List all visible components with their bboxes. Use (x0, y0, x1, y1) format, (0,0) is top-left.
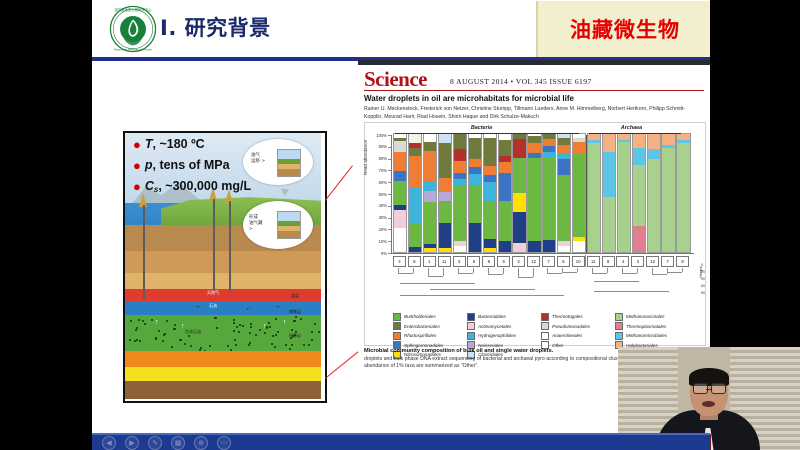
dendrogram-branch (443, 268, 444, 276)
bar-segment (603, 197, 615, 252)
rock-texture-dot (275, 334, 277, 336)
height-tick-label: 40 (701, 277, 705, 281)
legend-swatch (615, 332, 623, 340)
legend-swatch (467, 322, 475, 330)
bar-segment (454, 246, 466, 252)
legend-item: Pseudomonadales (541, 322, 615, 332)
bar-segment (409, 134, 421, 143)
bullet-symbol-0: T (145, 137, 153, 151)
bar-segment (528, 241, 540, 252)
dendrogram-branch (428, 276, 443, 277)
dendrogram-branch (518, 268, 519, 277)
zoom-button[interactable]: ⊕ (194, 436, 208, 450)
bar-segment (469, 223, 481, 253)
legend-swatch (467, 313, 475, 321)
rock-texture-dot (142, 320, 144, 322)
bar-segment (633, 165, 645, 226)
rock-texture-dot (136, 339, 138, 341)
dendrogram-branch (428, 268, 429, 276)
institute-emblem-logo: 油气藏地质工程研究中心 Reservoir Research Center (109, 5, 157, 53)
group-divider (586, 135, 587, 253)
dendrogram-branch (473, 268, 474, 273)
callout-bottom-block-icon (277, 211, 301, 239)
rock-texture-dot (233, 322, 235, 324)
legend-item: Enterobacteriales (393, 322, 467, 332)
rock-texture-dot (236, 326, 238, 328)
bar-archaea-9 (602, 133, 616, 253)
bar-segment (469, 167, 481, 174)
screen: 油气藏地质工程研究中心 Reservoir Research Center I.… (0, 0, 800, 450)
bar-archaea-4 (617, 133, 631, 253)
dendrogram-branch (547, 273, 562, 274)
connector-line-bottom (325, 349, 361, 379)
rock-texture-dot (216, 327, 218, 329)
dendrogram-branch (518, 277, 533, 278)
bar-segment (454, 179, 466, 186)
rock-texture-dot (173, 328, 175, 330)
bar-bacteria-1 (423, 133, 437, 253)
rock-texture-dot (242, 325, 244, 327)
dendrogram-branch (458, 273, 473, 274)
rock-texture-dot (285, 344, 287, 346)
bar-segment (484, 175, 496, 182)
bar-segment (424, 191, 436, 203)
dendrogram-branch (488, 268, 489, 274)
bar-segment (618, 142, 630, 252)
dendrogram-branch (682, 268, 683, 272)
legend-label: Pseudomonadales (552, 324, 590, 329)
bar-bacteria-6 (557, 133, 571, 253)
rock-texture-dot (250, 323, 252, 325)
bar-segment (484, 138, 496, 166)
bar-segment (513, 193, 525, 212)
y-tick-label: 70% (372, 168, 387, 173)
oil-reservoir-conditions-panel: ↑ ↑ ↑ ↑ ← ← ← 天然气 石油 生成石油 盖层 储集层 烃源岩 油气 … (123, 131, 327, 403)
rock-texture-dot (291, 329, 293, 331)
bar-segment (573, 142, 585, 154)
bar-segment (633, 134, 645, 148)
dendrogram-branch (607, 268, 608, 273)
layer-label-caprock: 盖层 (291, 293, 299, 299)
rock-texture-dot (274, 346, 276, 348)
x-tick-label: 9 (602, 256, 615, 267)
bullet-dot-icon: ● (133, 159, 141, 172)
rock-texture-dot (227, 345, 229, 347)
height-tick-label: 20 (701, 270, 705, 274)
dendrogram-branch (547, 268, 548, 273)
bar-segment (484, 166, 496, 175)
masthead-rule (364, 90, 704, 91)
bar-segment (484, 182, 496, 201)
control-bar-accent (92, 433, 710, 435)
rock-texture-dot (233, 319, 235, 321)
bar-segment (424, 248, 436, 252)
rock-texture-dot (238, 331, 240, 333)
x-tick-label: 8 (408, 256, 421, 267)
bar-bacteria-8 (408, 133, 422, 253)
bar-segment (558, 246, 570, 252)
pen-tool-button[interactable]: ✎ (148, 436, 162, 450)
bar-segment (424, 142, 436, 150)
legend-swatch (615, 322, 623, 330)
legend-swatch (541, 332, 549, 340)
x-tick-label: 4 (616, 256, 629, 267)
legend-item: Rhodospirillales (393, 331, 467, 341)
rock-texture-dot (134, 340, 136, 342)
legend-swatch (393, 332, 401, 340)
presenter-mouth (702, 401, 715, 407)
bullet-dot-icon: ● (133, 180, 141, 193)
bar-segment (558, 138, 570, 145)
height-tick-label: 0 (701, 263, 703, 267)
next-slide-button[interactable]: ▶ (125, 436, 139, 450)
bar-segment (484, 248, 496, 252)
rock-texture-dot (264, 332, 266, 334)
rock-texture-dot (139, 340, 141, 342)
legend-label: Enterobacteriales (404, 324, 440, 329)
x-tick-label: 3 (631, 256, 644, 267)
rock-texture-dot (209, 345, 211, 347)
bar-segment (394, 181, 406, 205)
bar-bacteria-2 (512, 133, 526, 253)
bar-segment (499, 241, 511, 252)
x-tick-label: 2 (512, 256, 525, 267)
rock-texture-dot (289, 348, 291, 350)
legend-swatch (393, 322, 401, 330)
rock-texture-dot (144, 323, 146, 325)
bar-segment (513, 243, 525, 252)
legend-item: Anaerolineales (541, 331, 615, 341)
legend-label: Thermotogales (552, 314, 583, 319)
bar-segment (499, 173, 511, 201)
x-tick-label: 10 (572, 256, 585, 267)
bar-segment (469, 138, 481, 159)
conditions-bullet-list: ● T, ~180 ºC ● p, tens of MPa ● Cs, ~300… (131, 137, 323, 201)
connector-line-top (325, 165, 353, 200)
glasses-right-lens-icon (711, 383, 726, 394)
dendrogram-branch (562, 272, 577, 273)
callout-bottom-label: 形成 油气藏 > (249, 215, 263, 233)
rock-texture-dot (250, 326, 252, 328)
legend-label: Hydrogenophilales (478, 333, 516, 338)
dendrogram-branch (577, 268, 578, 272)
legend-label: Methanomicrobiales (626, 333, 667, 338)
legend-swatch (541, 313, 549, 321)
bar-segment (439, 192, 451, 201)
science-masthead: Science (364, 67, 427, 92)
bar-segment (394, 228, 406, 252)
dendrogram-branch (622, 268, 623, 273)
rock-texture-dot (303, 344, 305, 346)
rock-texture-dot (235, 344, 237, 346)
legend-label: Sphingomonadales (404, 343, 443, 348)
rock-texture-dot (171, 346, 173, 348)
bar-segment (454, 149, 466, 161)
previous-slide-button[interactable]: ◀ (102, 436, 116, 450)
rock-texture-dot (294, 320, 296, 322)
bar-segment (409, 148, 421, 156)
x-tick-label: 8 (676, 256, 689, 267)
bar-segment (439, 134, 451, 143)
bar-segment (484, 201, 496, 239)
dendrogram-branch (533, 268, 534, 277)
bar-segment (543, 139, 555, 146)
bar-segment (588, 143, 600, 252)
legend-item: Actinomycetales (467, 322, 541, 332)
layer-label-sourcerock: 烃源岩 (289, 333, 301, 339)
x-tick-label: 8 (467, 256, 480, 267)
rock-texture-dot (188, 335, 190, 337)
rock-texture-dot (135, 329, 137, 331)
bar-bacteria-10 (572, 133, 586, 253)
y-tick-label: 90% (372, 144, 387, 149)
stacked-bar-plot (391, 135, 694, 254)
bar-segment (648, 159, 660, 252)
bar-segment (394, 171, 406, 182)
rock-texture-dot (138, 319, 140, 321)
legend-swatch (393, 313, 401, 321)
x-tick-label: 6 (557, 256, 570, 267)
bar-segment (513, 212, 525, 243)
height-tick-label: 60 (701, 284, 705, 288)
figure-frame: Read abundance 0%10%20%30%40%50%60%70%80… (364, 122, 706, 346)
bar-segment (439, 178, 451, 192)
legend-item: Thermoplasmatales (615, 322, 689, 332)
legend-label: Anaerolineales (552, 333, 582, 338)
rock-texture-dot (275, 318, 277, 320)
rock-texture-dot (314, 323, 316, 325)
bar-segment (424, 181, 436, 190)
bar-segment (603, 152, 615, 197)
topic-badge: 油藏微生物 (536, 1, 710, 57)
rock-texture-dot (311, 331, 313, 333)
x-tick-label: 5 (497, 256, 510, 267)
group-label-archaea: Archaea (621, 125, 642, 131)
dendrogram-branch (592, 273, 607, 274)
legend-column: ThermotogalesPseudomonadalesAnaerolineal… (541, 312, 615, 350)
rock-texture-dot (295, 316, 297, 318)
y-axis-label: Read abundance (363, 140, 368, 175)
x-tick-label: 11 (438, 256, 451, 267)
y-tick-label: 80% (372, 156, 387, 161)
bar-segment (499, 201, 511, 241)
rock-texture-dot (271, 343, 273, 345)
rock-texture-dot (291, 344, 293, 346)
dendrogram-branch (594, 291, 669, 292)
y-tick-label: 100% (372, 133, 387, 138)
bar-segment (424, 151, 436, 182)
bar-segment (394, 210, 406, 229)
bar-segment (513, 158, 525, 193)
rock-texture-dot (233, 330, 235, 332)
group-rule-bacteria (395, 133, 579, 134)
bar-bacteria-12 (527, 133, 541, 253)
rock-texture-dot (155, 338, 157, 340)
bar-segment (513, 139, 525, 158)
more-options-button[interactable]: ⋯ (217, 436, 231, 450)
rock-texture-dot (311, 339, 313, 341)
bar-segment (409, 223, 421, 248)
dendrogram-branch (637, 268, 638, 273)
bar-segment (633, 226, 645, 252)
bar-bacteria-11 (438, 133, 452, 253)
dendrogram-branch (398, 268, 399, 273)
rock-texture-dot (272, 335, 274, 337)
svg-text:油气藏地质工程研究中心: 油气藏地质工程研究中心 (115, 7, 153, 12)
bar-bacteria-5 (498, 133, 512, 253)
legend-item: Bacteroidales (467, 312, 541, 322)
bar-archaea-12 (647, 133, 661, 253)
bar-bacteria-3 (453, 133, 467, 253)
bar-archaea-8 (676, 133, 690, 253)
bar-archaea-7 (661, 133, 675, 253)
legend-swatch (541, 322, 549, 330)
bar-bacteria-4 (393, 133, 407, 253)
rock-texture-dot (158, 330, 160, 332)
bar-segment (439, 201, 451, 222)
rock-texture-dot (151, 319, 153, 321)
bar-bacteria-9 (483, 133, 497, 253)
x-tick-label: 7 (542, 256, 555, 267)
legend-label: Neisseriales (478, 343, 503, 348)
legend-label: Other (552, 343, 564, 348)
dendrogram-branch (413, 268, 414, 273)
layer-label-oil: 石油 (209, 303, 217, 309)
rock-texture-dot (166, 320, 168, 322)
figure-top-band (358, 60, 710, 65)
dendrogram-branch (458, 268, 459, 273)
bar-segment (528, 136, 540, 143)
svg-text:Reservoir Research Center: Reservoir Research Center (114, 48, 153, 52)
legend-column: MethanosarcinalesThermoplasmatalesMethan… (615, 312, 689, 350)
bar-segment (543, 240, 555, 252)
rock-texture-dot (234, 339, 236, 341)
bar-segment (677, 143, 689, 252)
bar-archaea-3 (632, 133, 646, 253)
dendrogram-branch (622, 273, 637, 274)
dendrogram-branch (667, 268, 668, 272)
group-rule-archaea (589, 133, 681, 134)
letterbox-left (0, 0, 92, 450)
page-title: I. 研究背景 (160, 12, 271, 42)
bar-segment (484, 239, 496, 248)
slide-header: 油气藏地质工程研究中心 Reservoir Research Center I.… (92, 0, 710, 57)
bar-archaea-11 (587, 133, 601, 253)
rock-texture-dot (184, 343, 186, 345)
x-tick-label: 12 (646, 256, 659, 267)
dendrogram-branch (400, 283, 475, 284)
rock-texture-dot (300, 318, 302, 320)
y-tick-label: 40% (372, 203, 387, 208)
rock-texture-dot (308, 344, 310, 346)
dendrogram-branch (503, 268, 504, 274)
bar-segment (454, 161, 466, 173)
x-tick-label: 7 (661, 256, 674, 267)
bar-segment (439, 143, 451, 177)
x-tick-label: 1 (423, 256, 436, 267)
rock-texture-dot (214, 317, 216, 319)
issue-line: 8 AUGUST 2014 • VOL 345 ISSUE 6197 (450, 77, 592, 86)
x-tick-label: 4 (393, 256, 406, 267)
legend-swatch (467, 332, 475, 340)
group-label-bacteria: Bacteria (471, 125, 492, 131)
x-tick-label: 11 (587, 256, 600, 267)
rock-texture-dot (269, 326, 271, 328)
dendrogram-branch (562, 268, 563, 272)
dendrogram-branch (594, 281, 639, 282)
x-tick-label: 12 (527, 256, 540, 267)
legend-label: Bacteroidales (478, 314, 506, 319)
height-tick-label: 80 (701, 291, 705, 295)
legend-item: Burkholderiales (393, 312, 467, 322)
slide-menu-button[interactable]: ▦ (171, 436, 185, 450)
bar-segment (439, 248, 451, 252)
rock-texture-dot (259, 329, 261, 331)
rock-texture-dot (162, 340, 164, 342)
bullet-text-0: , ~180 ºC (153, 137, 205, 151)
y-tick-label: 10% (372, 239, 387, 244)
list-item: ● Cs, ~300,000 mg/L (131, 179, 323, 194)
legend-label: Methanosarcinales (626, 314, 665, 319)
x-tick-label: 3 (453, 256, 466, 267)
bar-bacteria-7 (542, 133, 556, 253)
bar-segment (662, 148, 674, 252)
y-tick-label: 60% (372, 180, 387, 185)
bullet-text-2: , ~300,000 mg/L (158, 179, 251, 193)
legend-label: Thermoplasmatales (626, 324, 666, 329)
list-item: ● T, ~180 ºC (131, 137, 323, 151)
list-item: ● p, tens of MPa (131, 158, 323, 172)
bar-segment (394, 141, 406, 152)
rock-texture-dot (268, 322, 270, 324)
rock-texture-dot (255, 334, 257, 336)
rock-texture-dot (130, 320, 132, 322)
legend-item: Hydrogenophilales (467, 331, 541, 341)
legend-item: Thermotogales (541, 312, 615, 322)
bar-segment (648, 149, 660, 158)
rock-texture-dot (239, 324, 241, 326)
bar-segment (558, 175, 570, 241)
bar-segment (558, 145, 570, 154)
bar-segment (469, 185, 481, 223)
layer-label-reservoir: 储集层 (289, 309, 301, 315)
glasses-bridge-icon (706, 389, 711, 390)
bar-segment (424, 134, 436, 142)
bar-segment (409, 156, 421, 188)
bar-segment (543, 158, 555, 241)
dendrogram-branch (667, 272, 682, 273)
rock-texture-dot (180, 339, 182, 341)
bar-segment (454, 186, 466, 241)
y-tick-label: 30% (372, 215, 387, 220)
bar-segment (603, 134, 615, 152)
bar-segment (499, 162, 511, 173)
dendrogram-branch (488, 274, 503, 275)
legend-label: Actinomycetales (478, 324, 511, 329)
bar-segment (648, 134, 660, 149)
bar-segment (573, 154, 585, 237)
bar-segment (439, 223, 451, 249)
dendrogram-branch (400, 295, 564, 296)
legend-item: Methanosarcinales (615, 312, 689, 322)
bullet-symbol-2: C (145, 179, 154, 193)
rock-texture-dot (174, 324, 176, 326)
presentation-control-bar: ◀▶✎▦⊕⋯ (92, 433, 710, 450)
topic-badge-label: 油藏微生物 (570, 14, 680, 44)
bar-segment (528, 143, 540, 152)
y-tick-label: 20% (372, 227, 387, 232)
bar-segment (394, 152, 406, 171)
